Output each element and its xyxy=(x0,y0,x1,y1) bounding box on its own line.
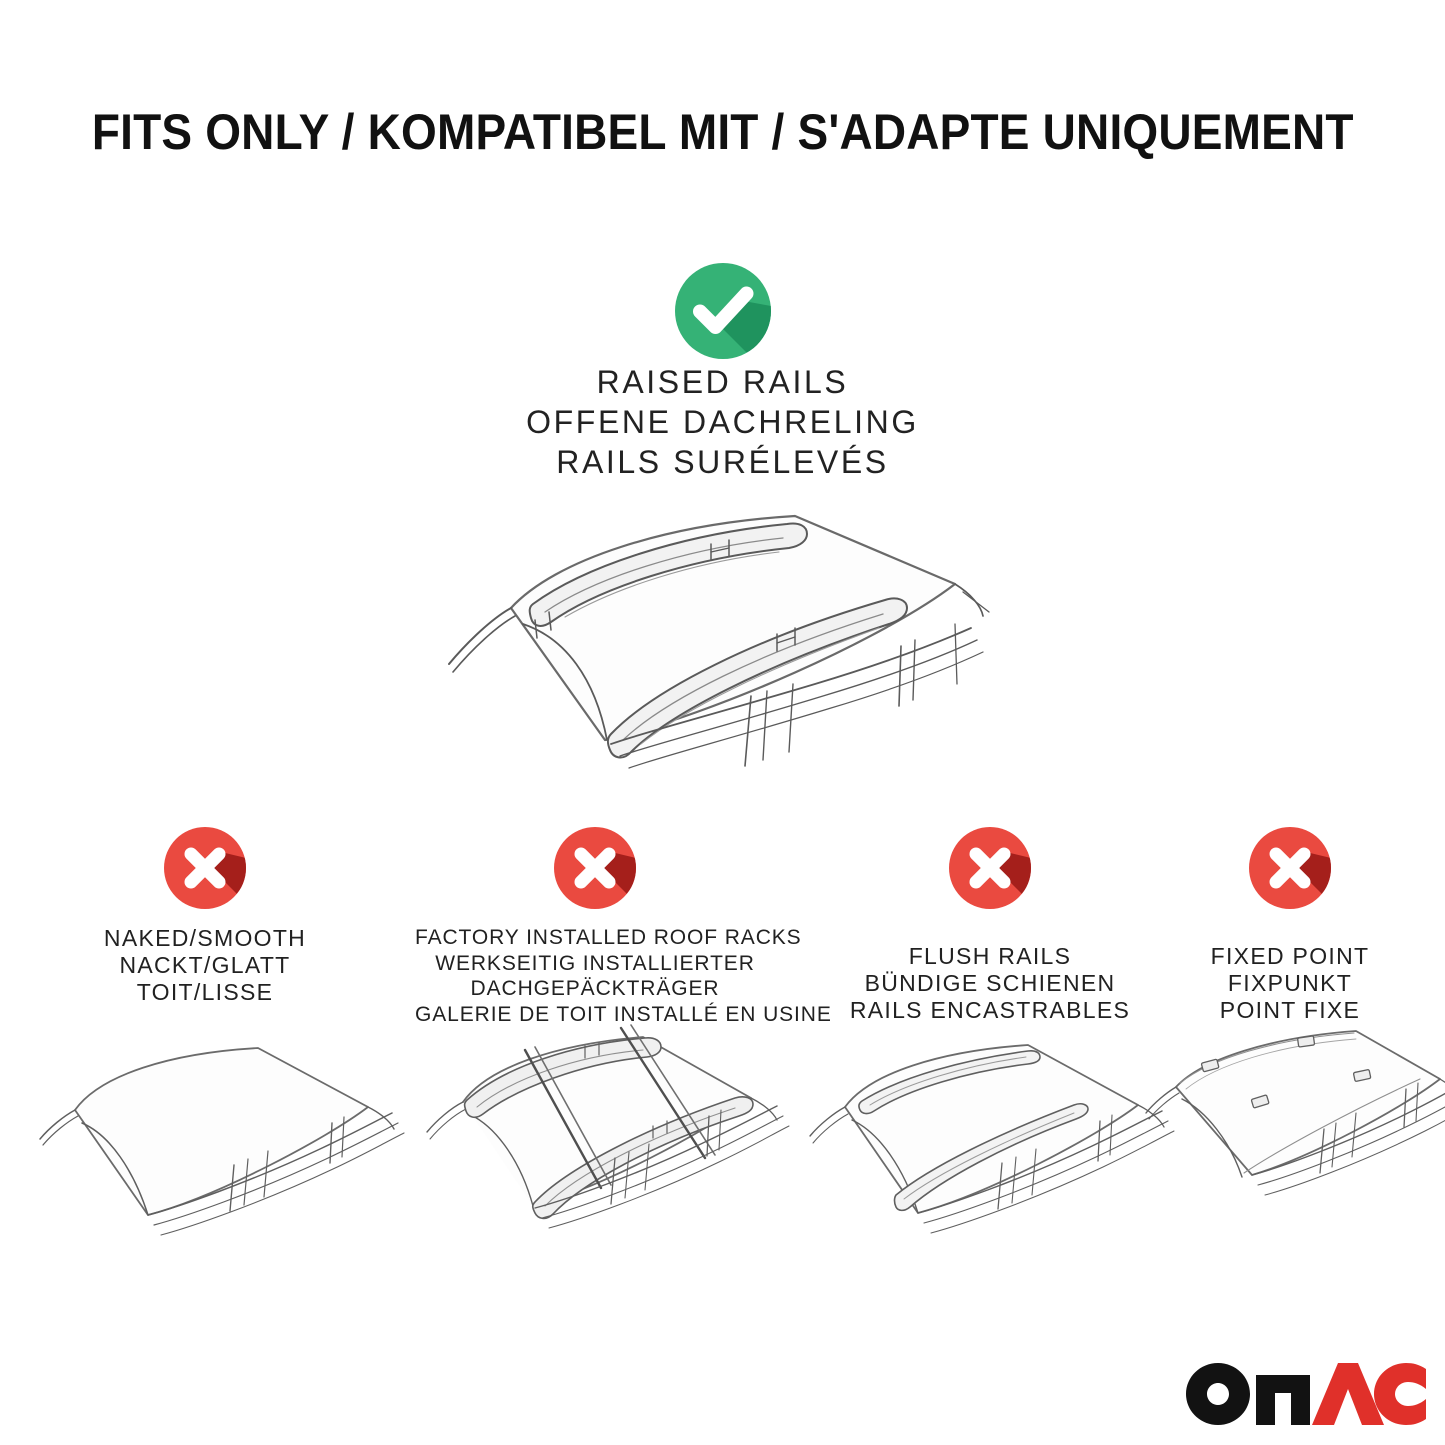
caption-line: OFFENE DACHRELING xyxy=(0,402,1445,442)
caption-line: FACTORY INSTALLED ROOF RACKS xyxy=(415,925,775,951)
logo-letter-o xyxy=(1186,1363,1250,1425)
caption-line: FIXED POINT xyxy=(1110,943,1445,970)
item-caption: FIXED POINT FIXPUNKT POINT FIXE xyxy=(1110,943,1445,1024)
check-circle-icon xyxy=(664,252,782,375)
logo-letter-c xyxy=(1374,1363,1426,1425)
caption-line: WERKSEITIG INSTALLIERTER xyxy=(415,951,775,977)
caption-line: NAKED/SMOOTH xyxy=(25,925,385,952)
caption-line: TOIT/LISSE xyxy=(25,979,385,1006)
x-circle-icon xyxy=(25,818,385,920)
page-title: FITS ONLY / KOMPATIBEL MIT / S'ADAPTE UN… xyxy=(0,103,1445,161)
item-caption: NAKED/SMOOTH NACKT/GLATT TOIT/LISSE xyxy=(25,925,385,1006)
logo-letter-a xyxy=(1312,1363,1384,1425)
caption-line: DACHGEPÄCKTRÄGER xyxy=(415,976,775,1002)
car-roof-raised-rails-illustration xyxy=(415,488,1015,788)
caption-line: FIXPUNKT xyxy=(1110,970,1445,997)
x-circle-icon xyxy=(1110,818,1445,920)
car-roof-flush-rails-illustration xyxy=(790,1015,1190,1245)
car-roof-fixed-point-illustration xyxy=(1140,1015,1445,1245)
x-circle-icon xyxy=(415,818,775,920)
logo-letter-m xyxy=(1256,1375,1310,1425)
incompatible-item-fixed-point: FIXED POINT FIXPUNKT POINT FIXE xyxy=(1110,818,1445,1024)
car-roof-naked-illustration xyxy=(20,1015,420,1245)
omac-logo: OMAC xyxy=(1186,1363,1426,1425)
page-title-text: FITS ONLY / KOMPATIBEL MIT / S'ADAPTE UN… xyxy=(92,103,1354,161)
infographic-page: FITS ONLY / KOMPATIBEL MIT / S'ADAPTE UN… xyxy=(0,0,1445,1445)
caption-line: RAISED RAILS xyxy=(0,362,1445,402)
car-roof-factory-racks-illustration xyxy=(405,1012,805,1242)
caption-line: NACKT/GLATT xyxy=(25,952,385,979)
incompatible-item-factory-roof-racks: FACTORY INSTALLED ROOF RACKS WERKSEITIG … xyxy=(415,818,775,1027)
incompatible-item-naked-smooth: NAKED/SMOOTH NACKT/GLATT TOIT/LISSE xyxy=(25,818,385,1006)
raised-rails-caption: RAISED RAILS OFFENE DACHRELING RAILS SUR… xyxy=(0,362,1445,482)
caption-line: RAILS SURÉLEVÉS xyxy=(0,442,1445,482)
